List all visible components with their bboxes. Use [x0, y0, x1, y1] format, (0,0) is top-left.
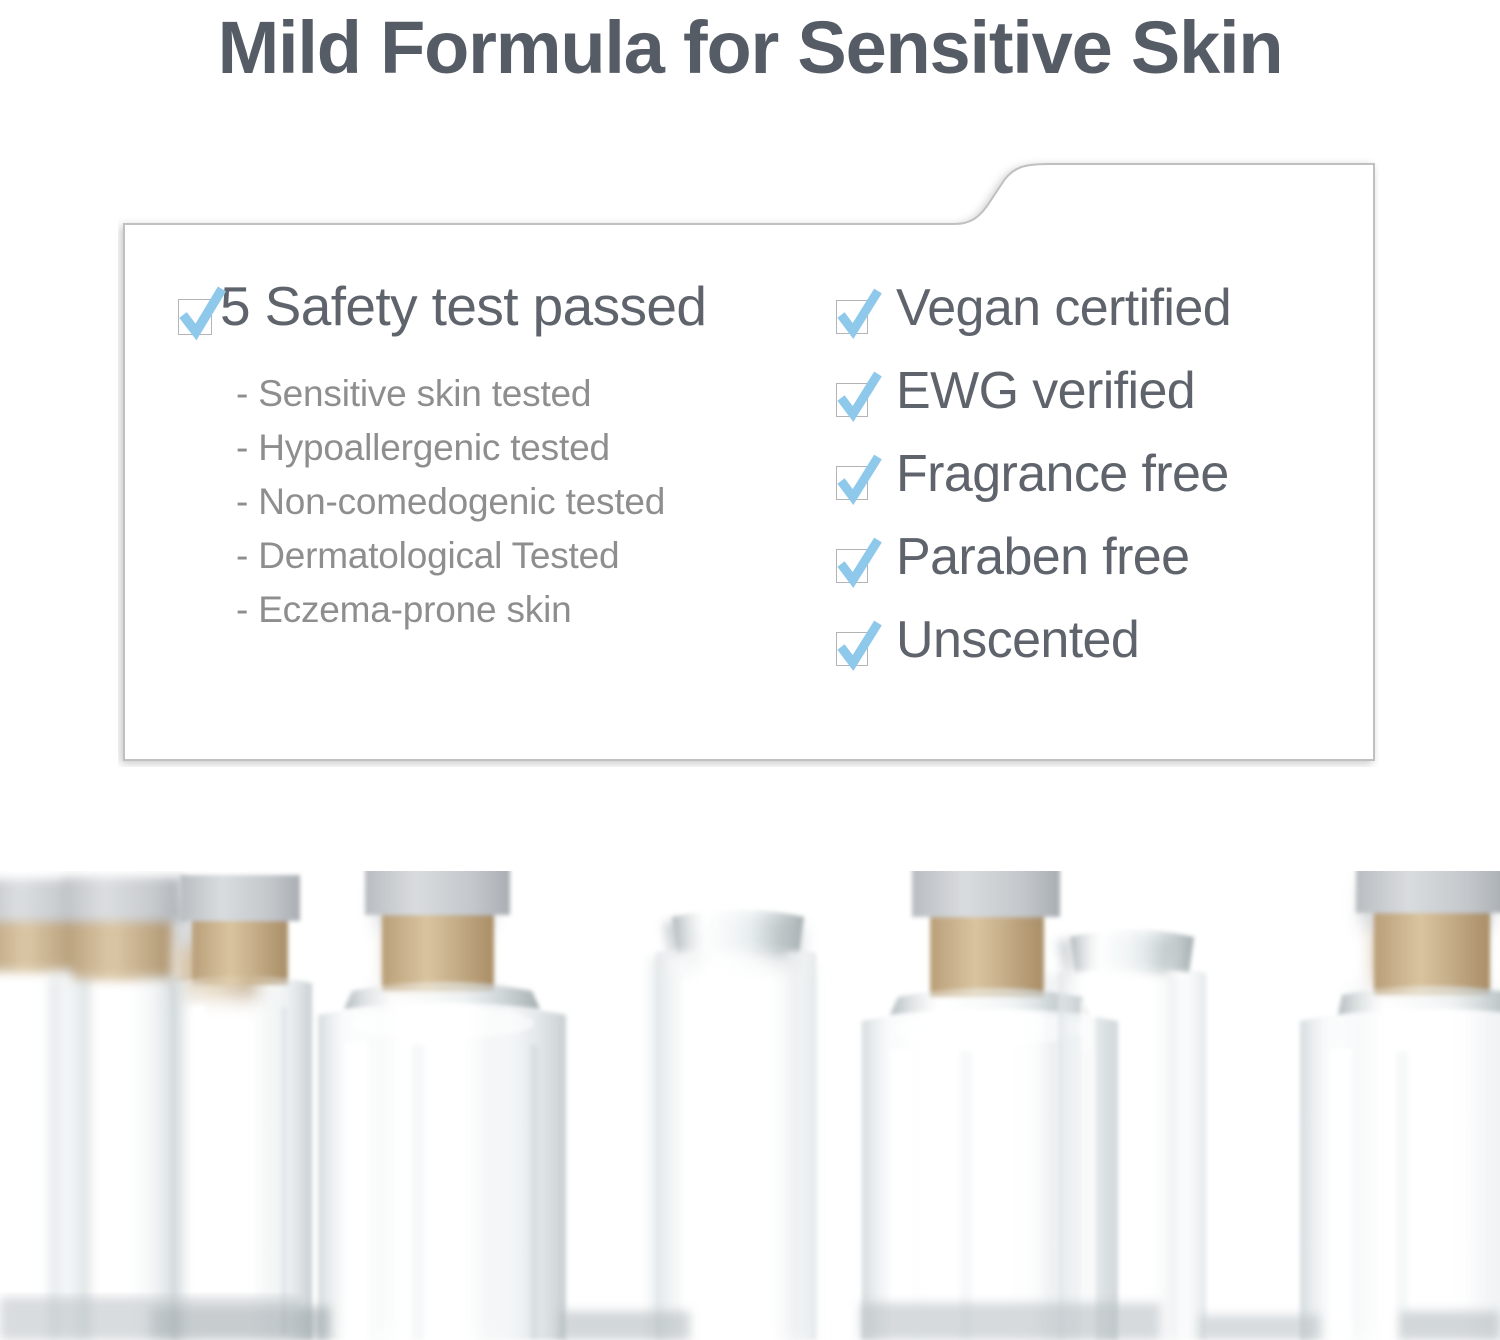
- claim-row-unscented: Unscented: [836, 612, 1376, 695]
- bottles-illustration: [0, 845, 1500, 1340]
- checkmark-icon: [836, 537, 886, 589]
- checkmark-icon: [836, 620, 886, 672]
- claim-label: EWG verified: [896, 363, 1195, 419]
- checkmark-icon: [836, 454, 886, 506]
- checkbox-checked-icon: [836, 537, 870, 587]
- checkbox-checked-icon: [178, 285, 214, 337]
- claim-label: Vegan certified: [896, 280, 1231, 336]
- safety-test-sublist: - Sensitive skin tested - Hypoallergenic…: [236, 367, 878, 637]
- claim-label: Fragrance free: [896, 446, 1229, 502]
- page-title: Mild Formula for Sensitive Skin: [0, 0, 1500, 95]
- checkmark-icon: [178, 285, 230, 341]
- claim-row-vegan-certified: Vegan certified: [836, 280, 1376, 363]
- safety-test-label: 5 Safety test passed: [220, 277, 706, 335]
- right-column: Vegan certified EWG verified: [836, 280, 1376, 695]
- checkmark-icon: [836, 371, 886, 423]
- left-column: 5 Safety test passed - Sensitive skin te…: [178, 277, 878, 637]
- claim-label: Unscented: [896, 612, 1139, 668]
- clear-glass-bottles-photo: [0, 845, 1500, 1340]
- checkbox-checked-icon: [836, 371, 870, 421]
- folder-card: 5 Safety test passed - Sensitive skin te…: [118, 152, 1379, 767]
- checkbox-checked-icon: [836, 288, 870, 338]
- checkbox-checked-icon: [836, 620, 870, 670]
- claim-label: Paraben free: [896, 529, 1189, 585]
- checkbox-checked-icon: [836, 454, 870, 504]
- list-item: - Sensitive skin tested: [236, 367, 878, 421]
- list-item: - Hypoallergenic tested: [236, 421, 878, 475]
- claim-row-fragrance-free: Fragrance free: [836, 446, 1376, 529]
- list-item: - Non-comedogenic tested: [236, 475, 878, 529]
- list-item: - Dermatological Tested: [236, 529, 878, 583]
- list-item: - Eczema-prone skin: [236, 583, 878, 637]
- claim-row-ewg-verified: EWG verified: [836, 363, 1376, 446]
- checkmark-icon: [836, 288, 886, 340]
- safety-test-row: 5 Safety test passed: [178, 277, 878, 337]
- claim-row-paraben-free: Paraben free: [836, 529, 1376, 612]
